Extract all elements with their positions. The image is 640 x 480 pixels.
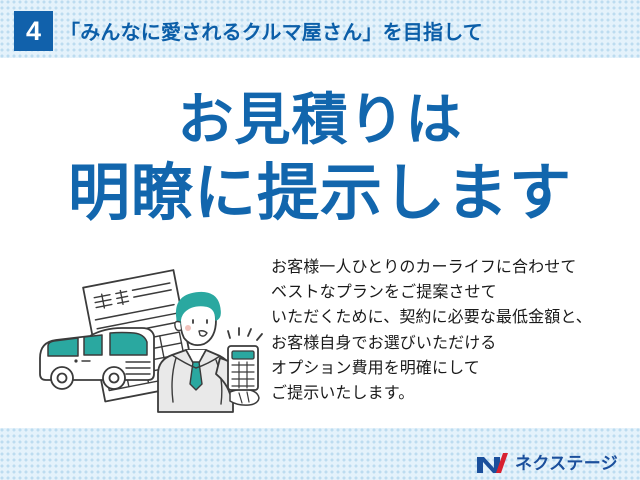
body-copy-line-1: お客様一人ひとりのカーライフに合わせて (271, 255, 633, 280)
promo-slide: 4 「みんなに愛されるクルマ屋さん」を目指して お見積りは 明瞭に提示します (0, 0, 640, 480)
illustration-salesman-quote-van (30, 262, 270, 422)
illustration-svg (30, 262, 270, 422)
step-number-badge: 4 (14, 11, 53, 51)
header-title: 「みんなに愛されるクルマ屋さん」を目指して (60, 16, 483, 45)
body-copy-line-5: オプション費用を明確にして (271, 356, 633, 381)
headline-line-1: お見積りは (0, 84, 640, 156)
headline: お見積りは 明瞭に提示します (0, 84, 640, 232)
nextage-n-mark-icon (476, 453, 508, 474)
body-copy-line-2: ベストなプランをご提案させて (271, 280, 633, 305)
body-copy-line-4: お客様自身でお選びいただける (271, 331, 633, 356)
headline-line-2: 明瞭に提示します (0, 156, 640, 232)
van-icon (40, 328, 154, 389)
body-copy-line-6: ご提示いたします。 (271, 381, 633, 406)
body-copy-line-3: いただくために、契約に必要な最低金額と、 (271, 305, 633, 330)
brand-logo: ネクステージ (476, 451, 618, 475)
body-copy: お客様一人ひとりのカーライフに合わせて ベストなプランをご提案させて いただくた… (271, 255, 633, 406)
calculator-icon (228, 346, 258, 390)
brand-logo-text: ネクステージ (515, 453, 618, 474)
sparkle-icon (228, 328, 262, 340)
header: 4 「みんなに愛されるクルマ屋さん」を目指して (0, 0, 640, 58)
